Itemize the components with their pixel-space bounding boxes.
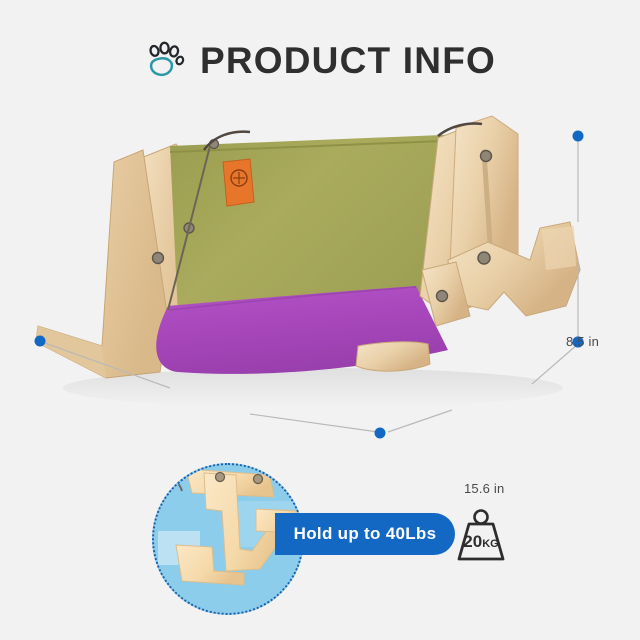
capacity-text: Hold up to 40Lbs (294, 524, 437, 544)
width-dot-right (375, 428, 386, 439)
brand-tag (223, 159, 254, 206)
capacity-banner: Hold up to 40Lbs (275, 513, 455, 555)
detail-screw-right (254, 475, 263, 484)
weight-icon-container: 20KG (450, 505, 512, 567)
weight-icon: 20KG (450, 505, 512, 567)
paw-print-icon (144, 39, 186, 81)
page-title: PRODUCT INFO (200, 42, 496, 79)
page-header: PRODUCT INFO (0, 30, 640, 90)
left-foot (36, 326, 106, 378)
weight-icon-value: 20KG (463, 532, 498, 551)
detail-screw-left (216, 473, 225, 482)
product-image (18, 110, 588, 420)
bracket-highlight (542, 226, 576, 270)
front-rail (356, 342, 430, 371)
infographic-canvas: PRODUCT INFO (0, 0, 640, 640)
